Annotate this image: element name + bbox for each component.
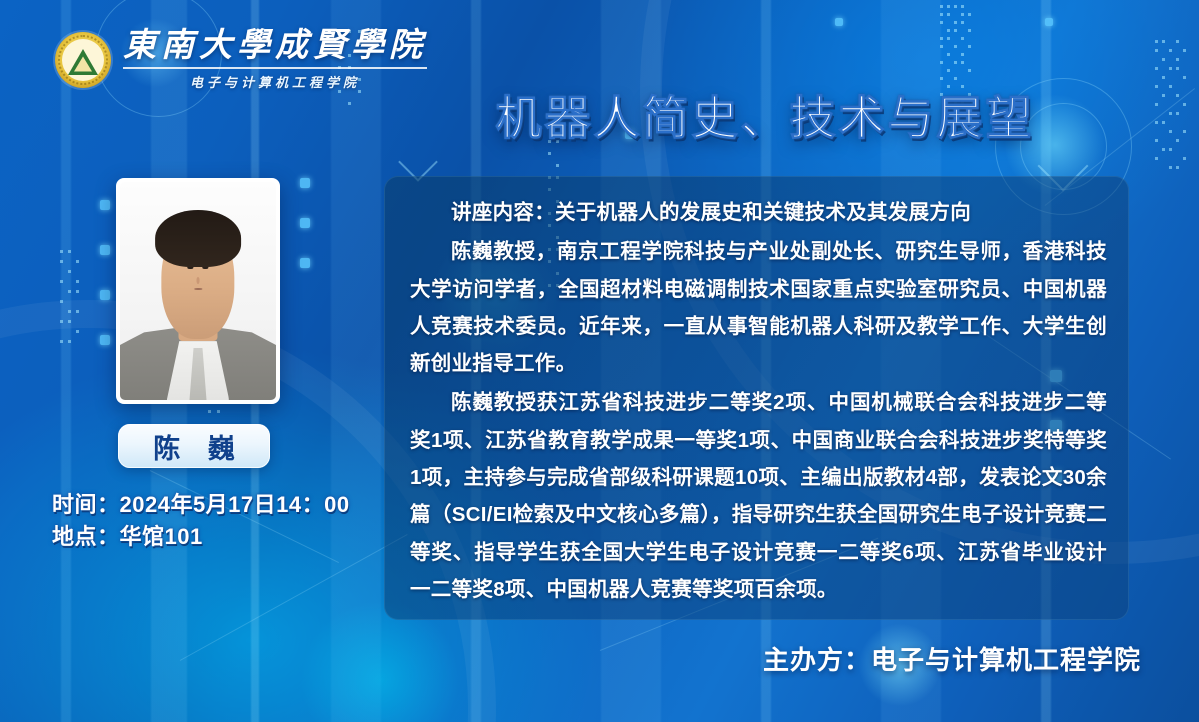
speaker-photo-frame xyxy=(116,178,280,404)
speaker-portrait xyxy=(120,182,276,400)
accent-dot-13 xyxy=(835,18,843,26)
poster-canvas: 東南大學成賢學院 电子与计算机工程学院 机器人简史、技术与展望 陈 巍 时间：2… xyxy=(0,0,1199,722)
content-text: 讲座内容：关于机器人的发展史和关键技术及其发展方向 陈巍教授，南京工程学院科技与… xyxy=(410,194,1107,610)
brand-divider xyxy=(123,67,427,69)
event-time: 时间：2024年5月17日14：00 xyxy=(52,489,350,521)
content-line-1: 讲座内容：关于机器人的发展史和关键技术及其发展方向 xyxy=(410,194,1107,231)
university-seal-icon xyxy=(55,32,111,88)
content-line-2: 陈巍教授，南京工程学院科技与产业处副处长、研究生导师，香港科技大学访问学者，全国… xyxy=(410,233,1107,382)
brand-text-block: 東南大學成賢學院 电子与计算机工程学院 xyxy=(123,28,427,91)
content-line-3: 陈巍教授获江苏省科技进步二等奖2项、中国机械联合会科技进步二等奖1项、江苏省教育… xyxy=(410,384,1107,608)
accent-dot-11 xyxy=(100,335,110,345)
accent-dot-9 xyxy=(100,245,110,255)
organizer-label: 主办方：电子与计算机工程学院 xyxy=(763,640,1141,677)
accent-dot-5 xyxy=(300,178,310,188)
accent-dot-14 xyxy=(1045,18,1053,26)
accent-dot-6 xyxy=(300,218,310,228)
accent-dot-10 xyxy=(100,290,110,300)
accent-dot-8 xyxy=(100,200,110,210)
brand-header: 東南大學成賢學院 电子与计算机工程学院 xyxy=(55,28,427,91)
university-name: 東南大學成賢學院 xyxy=(123,28,427,64)
speaker-name-badge: 陈 巍 xyxy=(118,424,270,468)
event-location: 地点：华馆101 xyxy=(52,521,350,553)
content-panel: 讲座内容：关于机器人的发展史和关键技术及其发展方向 陈巍教授，南京工程学院科技与… xyxy=(384,176,1129,620)
accent-dot-7 xyxy=(300,258,310,268)
diagonal-line-4 xyxy=(180,534,408,661)
department-name: 电子与计算机工程学院 xyxy=(190,72,360,91)
event-meta: 时间：2024年5月17日14：00 地点：华馆101 xyxy=(52,489,350,553)
poster-title: 机器人简史、技术与展望 xyxy=(415,82,1115,148)
